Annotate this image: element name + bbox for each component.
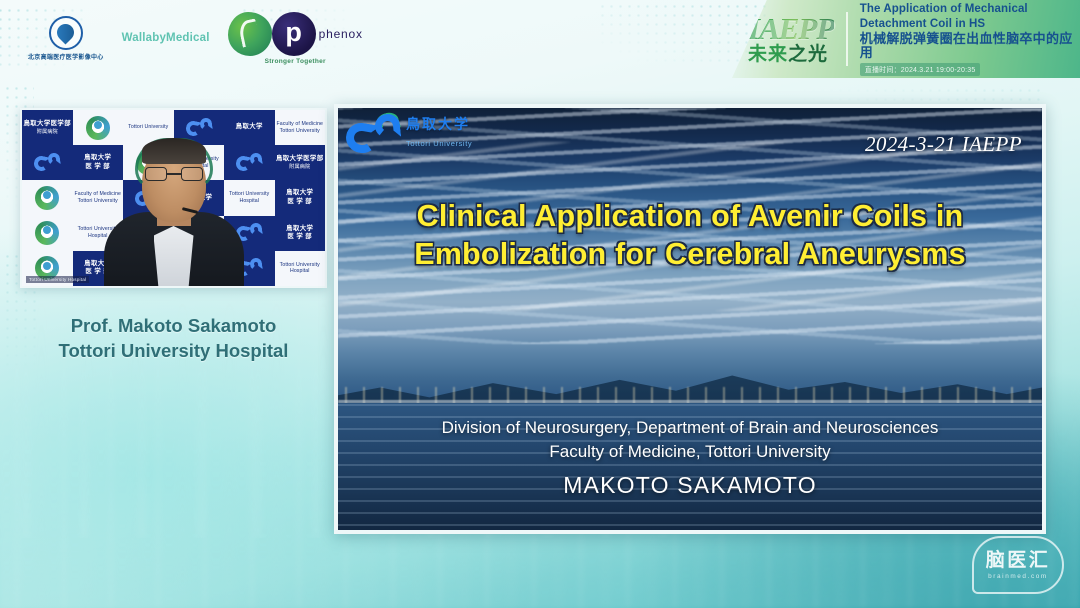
virtual-bg-tile: 鳥取大学医 学 部: [275, 180, 326, 215]
leaf-figure-icon: [228, 12, 272, 56]
vbg-tile-jp: 鳥取大学: [236, 123, 263, 132]
iaepp-broadcast-time-badge: 直播时间：2024.3.21 19:00-20:35: [860, 63, 981, 76]
partnership-tagline: Stronger Together: [265, 58, 326, 65]
presentation-slide: 鳥取大学 Tottori University 2024-3-21 IAEPP …: [338, 108, 1042, 530]
tottori-logo-text: 鳥取大学 Tottori University: [406, 117, 472, 151]
vbg-tile-jp2: 医 学 部: [286, 233, 313, 242]
vbg-tile-text: Faculty of Medicine Tottori University: [276, 121, 325, 135]
sponsor-logo-cn-medical-center: 北京高端医疗医学影像中心: [28, 16, 104, 61]
vbg-tile-text: 鳥取大学医 学 部: [286, 189, 313, 206]
slide-date-label: 2024-3-21 IAEPP: [865, 132, 1022, 157]
sponsor-logo-partnership: p phenox Stronger Together: [228, 12, 363, 65]
sponsor-cn-label: 北京高端医疗医学影像中心: [28, 52, 104, 61]
virtual-bg-tile: Tottori University Hospital: [275, 251, 326, 286]
banner-divider: [846, 12, 847, 66]
slide-affiliation-block: Division of Neurosurgery, Department of …: [338, 416, 1042, 502]
iaepp-title-cn: 机械解脱弹簧圈在出血性脑卒中的应用: [860, 32, 1080, 61]
vbg-tile-text: 鳥取大学: [236, 123, 263, 132]
virtual-bg-tile: Faculty of Medicine Tottori University: [275, 110, 326, 145]
speaker-name-text: Prof. Makoto Sakamoto: [20, 314, 327, 339]
heart-shield-icon: [49, 16, 83, 50]
bird-icon: [186, 118, 212, 138]
virtual-bg-tile: [22, 145, 73, 180]
bird-icon: [34, 153, 60, 173]
tottori-logo-en: Tottori University: [406, 139, 472, 148]
speaker-affiliation-text: Tottori University Hospital: [20, 339, 327, 364]
slide-title: Clinical Application of Avenir Coils in …: [338, 198, 1042, 273]
vbg-tile-text: Tottori University: [128, 124, 168, 131]
watermark-en-text: brainmed.com: [988, 573, 1048, 580]
virtual-bg-tile: [22, 216, 73, 251]
vbg-tile-en: 附属病院: [276, 164, 324, 171]
presentation-slide-frame[interactable]: 鳥取大学 Tottori University 2024-3-21 IAEPP …: [334, 104, 1046, 534]
iaepp-cn-slogan: 未来之光: [748, 45, 834, 65]
tottori-bird-icon: [346, 114, 400, 154]
speaker-panel: 鳥取大学医学部附属病院Tottori University鳥取大学Faculty…: [20, 108, 327, 364]
vbg-tile-jp: 鳥取大学医学部: [23, 120, 71, 129]
iaepp-event-banner: IAEPP 未来之光 The Application of Mechanical…: [732, 0, 1080, 78]
slide-affiliation-line2: Faculty of Medicine, Tottori University: [338, 440, 1042, 464]
dot-grid-decoration-top-mid: [598, 2, 766, 64]
iaepp-title-en-line2: Detachment Coil in HS: [860, 17, 1080, 31]
virtual-bg-tile: 鳥取大学医 学 部: [275, 216, 326, 251]
wallaby-line2: Medical: [166, 32, 210, 44]
speaker-figure: [104, 158, 244, 286]
iaepp-wordmark: IAEPP: [748, 13, 834, 44]
phenox-monogram-icon: p: [272, 12, 316, 56]
broadcast-stage: 北京高端医疗医学影像中心 Wallaby Medical p phenox St…: [0, 0, 1080, 608]
speaker-name-block: Prof. Makoto Sakamoto Tottori University…: [20, 314, 327, 364]
iaepp-logo-block: IAEPP 未来之光: [748, 13, 834, 65]
tottori-university-logo: 鳥取大学 Tottori University: [346, 114, 472, 154]
slide-title-line1: Clinical Application of Avenir Coils in: [352, 198, 1028, 236]
roundel-icon: [86, 116, 110, 140]
iaepp-slogan-part2: 之光: [788, 44, 828, 65]
virtual-bg-tile: [73, 110, 124, 145]
vbg-tile-en: Tottori University: [128, 124, 168, 131]
vbg-tile-text: Tottori University Hospital: [276, 262, 325, 276]
speaker-video-feed[interactable]: 鳥取大学医学部附属病院Tottori University鳥取大学Faculty…: [20, 108, 327, 288]
vbg-tile-jp2: 医 学 部: [286, 198, 313, 207]
roundel-icon: [35, 221, 59, 245]
eyeglasses-icon: [145, 167, 203, 182]
virtual-bg-tile: 鳥取大学: [224, 110, 275, 145]
slide-affiliation-line1: Division of Neurosurgery, Department of …: [338, 416, 1042, 440]
vbg-tile-text: 鳥取大学医学部附属病院: [23, 120, 71, 135]
sponsor-logo-bar: 北京高端医疗医学影像中心 Wallaby Medical p phenox St…: [28, 12, 363, 64]
iaepp-slogan-part1: 未来: [748, 44, 788, 65]
virtual-bg-tile: 鳥取大学医学部附属病院: [22, 110, 73, 145]
phenox-label: phenox: [319, 27, 363, 41]
roundel-icon: [35, 186, 59, 210]
tottori-logo-jp: 鳥取大学: [406, 116, 470, 132]
watermark-cn-text: 脑医汇: [986, 551, 1051, 570]
vbg-tile-en: Faculty of Medicine Tottori University: [276, 121, 325, 135]
video-caption-overlay: Tottori University Hospital: [26, 276, 89, 283]
partnership-marks-row: p phenox: [228, 12, 363, 56]
vbg-tile-jp: 鳥取大学: [286, 225, 313, 234]
vbg-tile-en: Tottori University Hospital: [276, 262, 325, 276]
sponsor-logo-wallaby-medical: Wallaby Medical: [122, 32, 210, 44]
virtual-bg-tile: 鳥取大学医学部附属病院: [275, 145, 326, 180]
wallaby-line1: Wallaby: [122, 32, 166, 44]
vbg-tile-text: 鳥取大学医学部附属病院: [276, 155, 324, 170]
vbg-tile-jp: 鳥取大学医学部: [276, 155, 324, 164]
vbg-tile-text: 鳥取大学医 学 部: [286, 225, 313, 242]
slide-presenter-name: MAKOTO SAKAMOTO: [338, 469, 1042, 502]
virtual-bg-tile: [22, 180, 73, 215]
vbg-tile-jp: 鳥取大学: [286, 189, 313, 198]
iaepp-title-en-line1: The Application of Mechanical: [860, 2, 1080, 16]
vbg-tile-en: 附属病院: [23, 129, 71, 136]
slide-title-line2: Embolization for Cerebral Aneurysms: [352, 236, 1028, 274]
brainmed-watermark: 脑医汇 brainmed.com: [972, 536, 1064, 594]
iaepp-title-block: The Application of Mechanical Detachment…: [860, 2, 1080, 77]
